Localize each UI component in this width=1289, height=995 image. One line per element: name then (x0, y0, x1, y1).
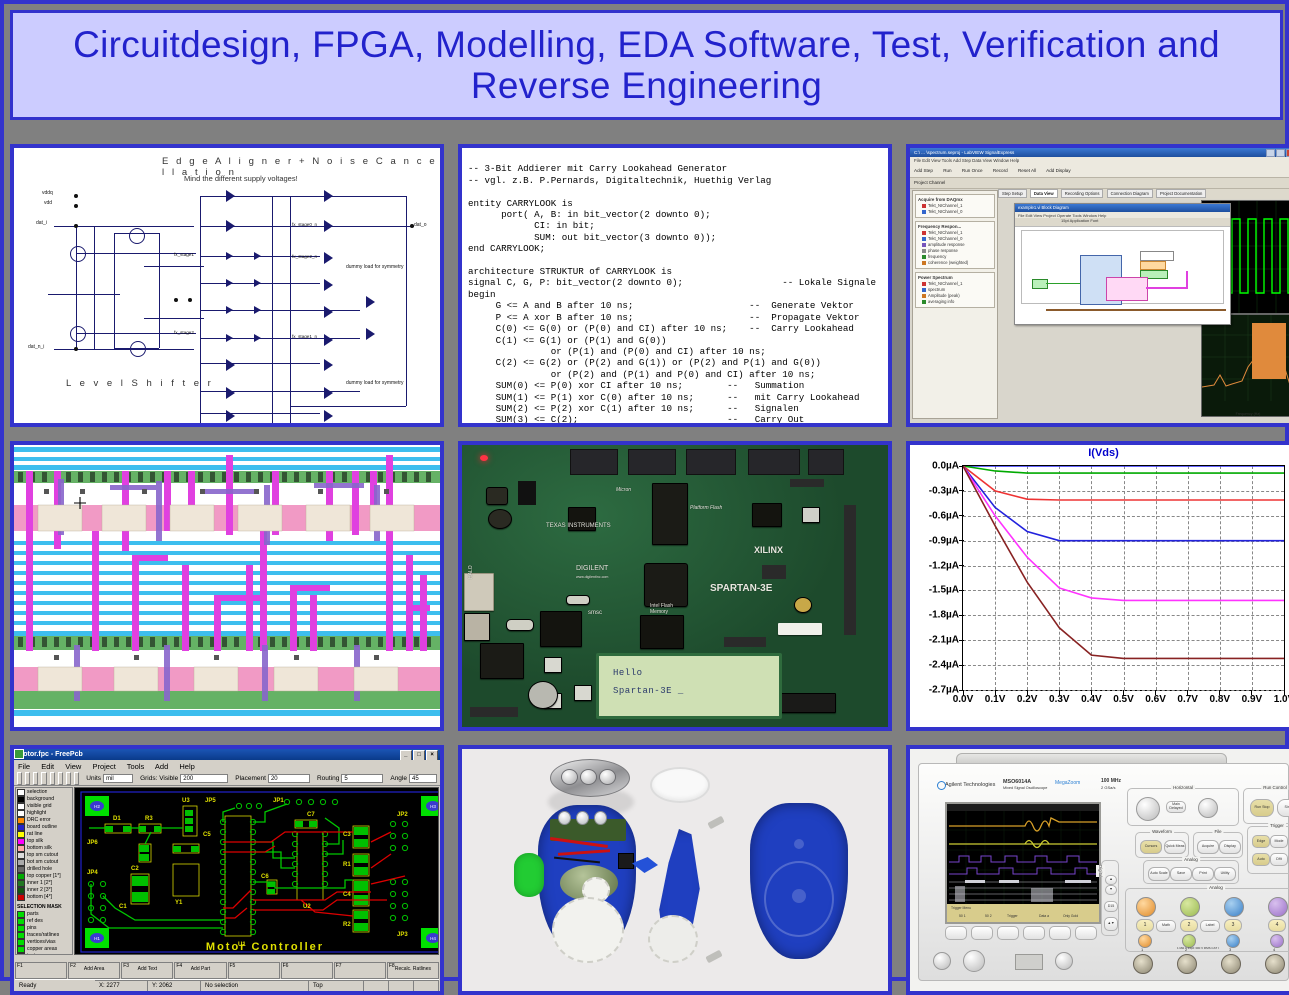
labview-project-tree[interactable]: Acquire from DAQmx Tekt_NIChannel_1 Tekt… (912, 190, 998, 419)
svg-text:JP6: JP6 (87, 840, 98, 846)
chart-xtick-label: 0.7V (1177, 694, 1198, 705)
layer-row[interactable]: board outline (17, 824, 71, 831)
softkey-6[interactable] (1075, 926, 1097, 940)
freepcb-titlebar: motor.fpc - FreePcb _ □ × (14, 749, 440, 760)
svg-text:C7: C7 (307, 812, 315, 818)
layer-row[interactable]: selection (17, 789, 71, 796)
step-group-freqresponse[interactable]: Frequency Respon... Tekt_NIChannel_1 Tek… (915, 221, 995, 269)
mask-row[interactable]: ref des (17, 918, 71, 925)
inverter-symbol (226, 279, 233, 287)
vi-node-pink[interactable] (1106, 277, 1148, 301)
copy-icon[interactable] (50, 772, 55, 785)
schematic-wire (114, 233, 159, 234)
single-button[interactable]: Single (1277, 799, 1289, 817)
silk-halo: HALO (468, 565, 474, 579)
dac-chip (480, 643, 524, 679)
schematic-bus (290, 196, 291, 427)
field-units[interactable]: Units mil (86, 774, 133, 783)
field-routing-value[interactable]: 5 (341, 774, 383, 783)
save-recall-button[interactable]: Save (1170, 867, 1192, 881)
svg-text:H1: H1 (94, 936, 100, 941)
layer-row[interactable]: visible grid (17, 803, 71, 810)
mask-row[interactable]: text (17, 953, 71, 955)
pin-header (762, 565, 786, 579)
menu-project[interactable]: Project (92, 762, 115, 771)
status-y: Y: 2062 (148, 980, 201, 992)
fpga-board-photo: HALO Micron Platform Flash XI (462, 445, 888, 727)
svg-text:Only Gold: Only Gold (1063, 914, 1078, 918)
inverter-symbol (324, 410, 333, 422)
menu-edit[interactable]: Edit (41, 762, 54, 771)
status-layer: Top (309, 980, 364, 992)
chart-xtick-label: 0.9V (1242, 694, 1263, 705)
softkey-1[interactable] (945, 926, 967, 940)
serial-connector (686, 449, 736, 475)
svg-text:JP2: JP2 (397, 812, 408, 818)
block-diagram-canvas[interactable] (1021, 230, 1224, 304)
current-source-symbol (130, 341, 146, 357)
lens (580, 769, 597, 785)
panel-vhdl-code[interactable]: -- 3-Bit Addierer mit Carry Lookahead Ge… (458, 144, 892, 427)
labview-tabstrip[interactable]: Step Setup Data View Recording Options C… (998, 189, 1289, 199)
freepcb-menubar[interactable]: File Edit View Project Tools Add Help (14, 760, 440, 771)
screw (705, 950, 722, 964)
cut-icon[interactable] (41, 772, 46, 785)
softkey-2[interactable] (971, 926, 993, 940)
labview-menubar[interactable]: File Edit View Tools Add Step Data View … (910, 157, 1289, 165)
silk-spartan3e: SPARTAN-3E (710, 583, 772, 594)
softkey-3[interactable] (997, 926, 1019, 940)
vhdl-line: or (P(1) and (P(0) and CI) after 10 ns; (468, 346, 766, 357)
flash-memory-chip (640, 615, 684, 649)
digital-button-up[interactable]: ▲ (1105, 875, 1117, 885)
chart-xtick-label: 0.3V (1049, 694, 1070, 705)
layer-row[interactable]: drilled hole (17, 866, 71, 873)
lens (599, 769, 616, 785)
tab-data-view[interactable]: Data View (1030, 189, 1058, 198)
inverter-symbol (226, 359, 235, 371)
channel-2-button[interactable]: 2 (1180, 919, 1198, 932)
chart-xtick-label: 0.0V (953, 694, 974, 705)
tab-step-setup[interactable]: Step Setup (998, 189, 1027, 198)
schematic-canvas: E d g e A l i g n e r + N o i s e C a n … (14, 148, 440, 423)
push-button (802, 507, 820, 523)
trigger-edge-button[interactable]: Edge (1252, 835, 1270, 848)
layer-row[interactable]: highlight (17, 810, 71, 817)
fkey-f1[interactable]: F1 (15, 962, 67, 979)
mask-row[interactable]: pins (17, 925, 71, 932)
menu-add[interactable]: Add (155, 762, 168, 771)
power-button[interactable] (933, 952, 951, 970)
entry-knob[interactable] (963, 950, 985, 972)
channel-3-button[interactable]: 3 (1224, 919, 1242, 932)
sma-connector (794, 597, 812, 613)
fkey-f3[interactable]: F3Add Text (121, 962, 173, 979)
chart-ytick-label: -1.8µA (929, 610, 959, 621)
inductor (488, 509, 512, 529)
silk-intel-flash: Intel Flash Memory (650, 603, 684, 615)
fkey-f7[interactable]: F7 (334, 962, 386, 979)
vhdl-line: SUM(2) <= P(2) xor C(1) after 10 ns; -- … (468, 403, 799, 414)
layer-row[interactable]: inner 2 [3*] (17, 887, 71, 894)
vi-node-output[interactable] (1140, 261, 1166, 270)
panel-ic-layout[interactable] (10, 441, 444, 731)
silk-ti: TEXAS INSTRUMENTS (546, 523, 611, 529)
mask-row[interactable]: traces/ratlines (17, 932, 71, 939)
svg-text:C3: C3 (343, 832, 351, 838)
port-label-dat-o: dat_o (414, 222, 427, 228)
fkey-f8[interactable]: F8Recalc. Ratlines (387, 962, 439, 979)
save-icon[interactable] (33, 772, 38, 785)
schematic-bus (200, 413, 320, 414)
port-label-dat-n-i: dat_n_i (28, 344, 44, 350)
display-button[interactable]: Display (1219, 840, 1241, 854)
section-measure: Waveform Cursors Quick Meas (1135, 832, 1189, 858)
svg-text:JP5: JP5 (205, 798, 216, 804)
tab-project-documentation[interactable]: Project Documentation (1156, 189, 1206, 198)
section-horizontal-label: Horizontal (1171, 785, 1195, 790)
step-item[interactable]: coherence (weighted) (918, 260, 992, 266)
print-icon[interactable] (66, 772, 71, 785)
layer-row[interactable]: bottom silk (17, 845, 71, 852)
softkey-5[interactable] (1049, 926, 1071, 940)
help-icon[interactable] (74, 772, 79, 785)
labview-block-diagram-window[interactable]: example1.vi Block Diagram File Edit View… (1014, 203, 1231, 325)
panel-teardown-photo[interactable] (458, 745, 892, 995)
vhdl-line: architecture STRUKTUR of CARRYLOOK is (468, 266, 672, 277)
inverter-symbol (324, 306, 333, 318)
bnc-label-4: 4 (1273, 947, 1275, 952)
horizontal-scale-knob[interactable] (1136, 797, 1160, 821)
chart-ytick-label: -2.4µA (929, 660, 959, 671)
chart-series-vgs-0-4-v (963, 466, 1284, 500)
channel-3-position-knob[interactable] (1226, 934, 1240, 948)
channel-1-button[interactable]: 1 (1136, 919, 1154, 932)
softkey-row[interactable] (945, 926, 1097, 938)
led-lamp (558, 811, 571, 825)
block-diagram-toolbar[interactable]: 15pt Application Font (1015, 218, 1230, 227)
junction-dot (174, 298, 178, 302)
layer-row[interactable]: DRC error (17, 817, 71, 824)
section-measure-label: Waveform (1150, 829, 1174, 834)
channel-4-scale-knob[interactable] (1268, 897, 1288, 917)
chart-xtick-mark (1219, 690, 1220, 695)
freepcb-toolbar[interactable]: Units mil Grids: Visible 200 Placement 2… (14, 771, 440, 786)
layer-row[interactable]: bot sm cutout (17, 859, 71, 866)
math-button[interactable]: Math (1156, 920, 1176, 932)
auto-scale-button[interactable]: Auto (1252, 853, 1270, 866)
field-units-value[interactable]: mil (103, 774, 133, 783)
panel-oscilloscope[interactable]: Agilent Technologies MSO6014A Mixed Sign… (906, 745, 1289, 995)
vi-wire-brown (1046, 309, 1226, 311)
current-source-symbol (70, 246, 86, 262)
agilent-logo-icon (937, 781, 946, 790)
toolbar-reset-all[interactable]: Reset All (1018, 168, 1036, 173)
freepcb-canvas[interactable]: H2H3 H1H4 (74, 787, 439, 955)
open-icon[interactable] (25, 772, 30, 785)
inverter-symbol (324, 190, 333, 202)
channel-1-scale-knob[interactable] (1136, 897, 1156, 917)
labview-window[interactable]: C:\ ... \spectrum.seproj - LabVIEW Signa… (910, 148, 1289, 423)
chart-xtick-mark (1155, 690, 1156, 695)
fkey-f5[interactable]: F5 (228, 962, 280, 979)
section-digital-label: Digital (1096, 865, 1105, 877)
inverter-symbol (324, 359, 333, 371)
svg-text:C1: C1 (119, 904, 127, 910)
field-angle[interactable]: Angle 45 (390, 774, 437, 783)
panel-fpga-board[interactable]: HALO Micron Platform Flash XI (458, 441, 892, 731)
input-spec-label: 1 MΩ ± 14pF 300 V RMS CAT I (1177, 946, 1219, 950)
bnc-input-4[interactable] (1265, 954, 1285, 974)
chart-xtick-mark (1187, 690, 1188, 695)
svg-text:R2: R2 (343, 922, 351, 928)
step-group-powerspectrum[interactable]: Power Spectrum Tekt_NIChannel_1 spectrum… (915, 272, 995, 308)
channel-2-scale-knob[interactable] (1180, 897, 1200, 917)
inverter-symbol (366, 296, 375, 308)
led-lamp (594, 811, 607, 825)
toolbar-run-once[interactable]: Run Once (962, 168, 983, 173)
toolbar-record[interactable]: Record (993, 168, 1008, 173)
screw (707, 816, 724, 830)
schematic-wire (144, 266, 204, 267)
tab-recording-options[interactable]: Recording Options (1061, 189, 1104, 198)
junction-dot (410, 224, 414, 228)
step-group-daqmx[interactable]: Acquire from DAQmx Tekt_NIChannel_1 Tekt… (915, 194, 995, 218)
vhdl-line: C(2) <= G(2) or (P(2) and G(1)) or (P(2)… (468, 357, 821, 368)
window-controls[interactable] (1266, 149, 1289, 157)
chart-xtick-label: 0.2V (1017, 694, 1038, 705)
inverter-symbol (324, 279, 333, 291)
digital-button-d15[interactable]: D15 (1104, 901, 1118, 912)
channel-1-position-knob[interactable] (1138, 934, 1152, 948)
maximize-icon[interactable] (1276, 149, 1285, 157)
digital-button-nav[interactable]: ▲▼ (1104, 917, 1118, 931)
fkey-f6[interactable]: F6 (281, 962, 333, 979)
layer-row[interactable]: bottom [4*] (17, 894, 71, 901)
bandwidth-label: 100 MHz (1101, 778, 1121, 784)
current-source-symbol (129, 228, 145, 244)
menu-help[interactable]: Help (179, 762, 194, 771)
chart-ytick-label: 0.0µA (932, 461, 959, 472)
layer-row[interactable]: top copper [1*] (17, 873, 71, 880)
toolbar-run[interactable]: Run (943, 168, 951, 173)
vhdl-line: -- 3-Bit Addierer mit Carry Lookahead Ge… (468, 163, 727, 174)
chart-xtick-mark (1251, 690, 1252, 695)
vi-node-output[interactable] (1140, 251, 1174, 261)
panel-labview[interactable]: C:\ ... \spectrum.seproj - LabVIEW Signa… (906, 144, 1289, 427)
section-file: Analog Auto Scale Save Print Utility (1143, 860, 1239, 884)
scope-display[interactable]: Trigger Menu 50 150 2 TriggerData aOnly … (945, 802, 1101, 924)
file-autoscale-button[interactable]: Auto Scale (1148, 867, 1170, 881)
svg-text:D1: D1 (113, 816, 121, 822)
bnc-input-1[interactable] (1133, 954, 1153, 974)
section-waveform: File Acquire Display (1193, 832, 1243, 858)
svg-text:C5: C5 (203, 832, 211, 838)
fkey-f4[interactable]: F4Add Part (174, 962, 226, 979)
chart-series-vgs-0-8-v (963, 466, 1284, 600)
channel-4-position-knob[interactable] (1270, 934, 1284, 948)
cursors-button[interactable]: Cursors (1140, 840, 1162, 854)
svg-text:R1: R1 (343, 862, 351, 868)
tab-connection-diagram[interactable]: Connection Diagram (1107, 189, 1153, 198)
digital-button-down[interactable]: ▼ (1105, 885, 1117, 895)
freepcb-window[interactable]: motor.fpc - FreePcb _ □ × File Edit View… (14, 749, 440, 991)
sram-chip (652, 483, 688, 545)
channel-3-scale-knob[interactable] (1224, 897, 1244, 917)
layer-row[interactable]: rat line (17, 831, 71, 838)
vi-node-input[interactable] (1032, 279, 1048, 289)
minimize-icon[interactable] (1266, 149, 1275, 157)
panel-grid: E d g e A l i g n e r + N o i s e C a n … (10, 144, 1287, 982)
new-icon[interactable] (17, 772, 22, 785)
svg-text:Trigger: Trigger (1007, 914, 1018, 918)
label-button[interactable]: Label (1200, 920, 1220, 932)
labview-project-bar[interactable]: Project Channel (910, 178, 1289, 189)
svg-text:Trigger Menu: Trigger Menu (951, 906, 971, 910)
horizontal-position-knob[interactable] (1198, 798, 1218, 818)
labview-toolbar[interactable]: Add Step Run Run Once Record Reset All A… (910, 165, 1289, 178)
status-selection: No selection (201, 980, 309, 992)
section-run-control-label: Run Control (1261, 785, 1288, 790)
schematic-net-label: fx_stage1_n (292, 334, 317, 339)
quick-print-button[interactable]: Print (1192, 867, 1214, 881)
freepcb-window-title: motor.fpc - FreePcb (17, 751, 83, 758)
svg-text:U3: U3 (182, 798, 190, 804)
run-stop-button[interactable]: Run Stop (1250, 799, 1274, 817)
silk-xilinx: XILINX (754, 545, 783, 555)
mask-row[interactable]: vertices/vias (17, 939, 71, 946)
fkey-f2[interactable]: F2Add Area (68, 962, 120, 979)
vhdl-source-text: -- 3-Bit Addierer mit Carry Lookahead Ge… (462, 148, 888, 423)
section-analog-label: Analog (1207, 885, 1225, 890)
spectrum-plot (1202, 315, 1289, 401)
section-run-control: Run Control Run Stop Single (1243, 788, 1289, 824)
layer-row[interactable]: inner 1 [2*] (17, 880, 71, 887)
junction-dot (74, 224, 78, 228)
silk-micron: Micron (616, 487, 631, 493)
bnc-input-3[interactable] (1221, 954, 1241, 974)
toolbar-add-step[interactable]: Add Step (914, 168, 933, 173)
bnc-input-2[interactable] (1177, 954, 1197, 974)
mask-row[interactable]: parts (17, 911, 71, 918)
chart-ytick-label: -0.3µA (929, 485, 959, 496)
svg-text:Data a: Data a (1039, 914, 1049, 918)
inverter-symbol (226, 306, 233, 314)
chart-xtick-mark (1027, 690, 1028, 695)
field-grids-visible-value[interactable]: 200 (180, 774, 228, 783)
inverter-symbol (254, 279, 261, 287)
field-angle-value[interactable]: 45 (409, 774, 437, 783)
inverter-symbol (226, 410, 235, 422)
panel-freepcb[interactable]: motor.fpc - FreePcb _ □ × File Edit View… (10, 745, 444, 995)
vhdl-line: G <= A and B after 10 ns; -- Generate Ve… (468, 300, 854, 311)
slide-switch-bank (778, 693, 836, 713)
block-diagram-font-selector[interactable]: 15pt Application Font (1015, 218, 1098, 223)
vhdl-line: begin (468, 289, 496, 300)
menu-tools[interactable]: Tools (127, 762, 145, 771)
block-diagram-titlebar: example1.vi Block Diagram (1015, 204, 1230, 212)
utility-button[interactable]: Utility (1214, 867, 1236, 881)
board-silkscreen-text: Motor Controller (206, 941, 324, 953)
inverter-symbol (226, 190, 235, 202)
field-placement-value[interactable]: 20 (268, 774, 310, 783)
vhdl-line: P <= A xor B after 10 ns; -- Propagate V… (468, 312, 859, 323)
layer-row[interactable]: top sm cutout (17, 852, 71, 859)
toolbar-add-display[interactable]: Add Display (1046, 168, 1071, 173)
softkey-4[interactable] (1023, 926, 1045, 940)
chart-xtick-label: 0.8V (1210, 694, 1231, 705)
usb-jack (464, 613, 490, 641)
trigger-mode-coupling-button[interactable]: Mode (1270, 835, 1288, 848)
crystal (506, 619, 534, 631)
field-routing[interactable]: Routing 5 (317, 774, 383, 783)
silk-smsc: smsc (588, 610, 602, 616)
freepcb-layer-panel[interactable]: selection background visible grid highli… (15, 787, 73, 955)
quick-meas-button[interactable]: Quick Meas (1164, 840, 1186, 854)
acquire-button[interactable]: Acquire (1197, 840, 1219, 854)
step-item[interactable]: Tekt_NIChannel_0 (918, 209, 992, 215)
channel-4-button[interactable]: 4 (1268, 919, 1286, 932)
schematic-bus (200, 196, 201, 427)
schematic-wire (94, 226, 95, 349)
mask-row[interactable]: copper areas (17, 946, 71, 953)
svg-text:Y1: Y1 (175, 900, 183, 906)
schematic-wire (114, 348, 159, 349)
panel-iv-chart[interactable]: I(Vds) 0.0µA-0.3µA-0.6µA-0.9µA-1.2µA-1.5… (906, 441, 1289, 731)
menu-file[interactable]: File (18, 762, 30, 771)
main-delayed-button[interactable]: Main Delayed (1166, 801, 1186, 813)
power-switch (518, 481, 536, 505)
layer-row[interactable]: background (17, 796, 71, 803)
inverter-symbol (324, 220, 333, 232)
field-grids-visible-label: Grids: Visible (140, 775, 178, 782)
vhdl-line: SUM(0) <= P(0) xor CI after 10 ns; -- Su… (468, 380, 804, 391)
paste-icon[interactable] (58, 772, 63, 785)
freepcb-function-keys[interactable]: F1 F2Add Area F3Add Text F4Add Part F5 F… (15, 962, 439, 979)
field-grids-visible[interactable]: Grids: Visible 200 (140, 774, 228, 783)
brand-label: Agilent Technologies (945, 782, 995, 788)
inverter-symbol (226, 220, 235, 232)
default-setup-button[interactable]: Dflt (1270, 853, 1288, 866)
inverter-symbol (226, 334, 233, 342)
platform-flash-chip (752, 503, 782, 527)
section-waveform-label: File (1212, 829, 1223, 834)
megazoom-logo-icon: MegaZoom (1055, 780, 1080, 786)
chart-xtick-label: 0.4V (1081, 694, 1102, 705)
menu-view[interactable]: View (65, 762, 81, 771)
panel-schematic[interactable]: E d g e A l i g n e r + N o i s e C a n … (10, 144, 444, 427)
character-lcd: Hello Spartan-3E _ (596, 653, 782, 719)
ic-layout-canvas (14, 445, 440, 727)
push-button (574, 685, 592, 701)
junction-dot (74, 347, 78, 351)
poster-page: Circuitdesign, FPGA, Modelling, EDA Soft… (0, 0, 1289, 981)
usb-connector (570, 449, 618, 475)
field-angle-label: Angle (390, 775, 407, 782)
status-x: X: 2277 (95, 980, 148, 992)
inverter-symbol (254, 334, 261, 342)
vhdl-line: C(1) <= G(1) or (P(1) and G(0)) (468, 335, 666, 346)
vhdl-line: entity CARRYLOOK is (468, 198, 573, 209)
vhdl-line: signal C, G, P: bit_vector(2 downto 0); … (468, 277, 876, 288)
svg-text:C4: C4 (343, 892, 351, 898)
layer-row[interactable]: top silk (17, 838, 71, 845)
chart-ytick-label: -0.9µA (929, 535, 959, 546)
step-item[interactable]: averaging info (918, 299, 992, 305)
ethernet-phy-chip (540, 611, 582, 647)
field-placement[interactable]: Placement 20 (235, 774, 310, 783)
project-view-selector[interactable]: Project Channel (914, 180, 945, 185)
